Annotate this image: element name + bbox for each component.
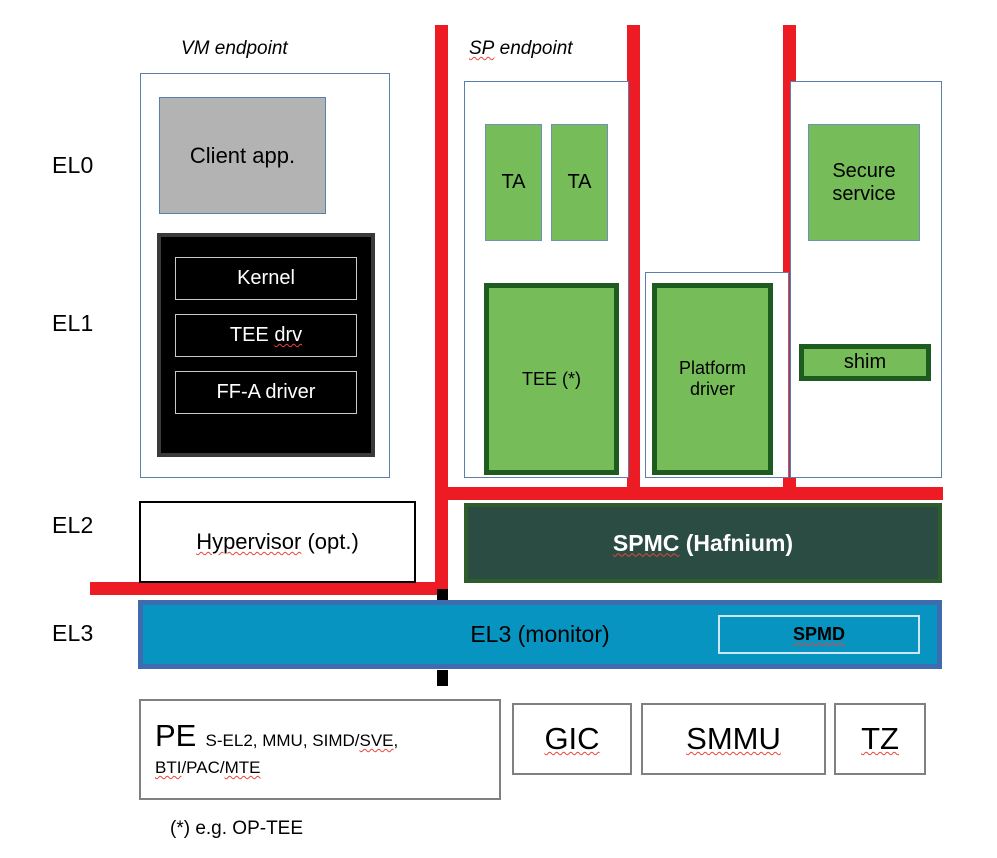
el3-text: EL3 — [52, 620, 94, 646]
platform-driver-box[interactable]: Platformdriver — [652, 283, 773, 475]
caption-sp-endpoint: SP endpoint — [469, 38, 573, 60]
el2-text: EL2 — [52, 512, 94, 538]
tee-box[interactable]: TEE (*) — [484, 283, 619, 475]
red-boundary-vertical-left — [435, 25, 448, 595]
exception-level-label-el1: EL1 — [52, 310, 142, 337]
secure-service-box[interactable]: Secureservice — [808, 124, 920, 241]
red-boundary-horizontal-left — [90, 582, 448, 595]
client-app-box[interactable]: Client app. — [159, 97, 326, 214]
ffa-driver-label: FF-A driver — [217, 381, 316, 404]
tee-label: TEE (*) — [522, 369, 581, 390]
spmd-box[interactable]: SPMD — [718, 615, 920, 654]
trusted-app-label-1: TA — [501, 171, 525, 194]
tz-label: TZ — [861, 721, 899, 757]
hypervisor-label: Hypervisor (opt.) — [196, 529, 359, 555]
connector-square-el3-pe — [437, 670, 448, 686]
kernel-label: Kernel — [237, 267, 295, 290]
ffa-driver-box[interactable]: FF-A driver — [175, 371, 357, 414]
sp-endpoint-label-sp: SP — [469, 38, 494, 59]
el3-monitor-label: EL3 (monitor) — [470, 621, 609, 648]
pe-text-block: PE S-EL2, MMU, SIMD/SVE, BTI/PAC/MTE — [155, 715, 489, 780]
secure-service-label: Secureservice — [832, 160, 895, 206]
trusted-app-box-1[interactable]: TA — [485, 124, 542, 241]
platform-driver-label: Platformdriver — [679, 358, 746, 399]
smmu-box[interactable]: SMMU — [641, 703, 826, 775]
pe-features-line1: S-EL2, MMU, SIMD/SVE, — [201, 731, 398, 750]
gic-box[interactable]: GIC — [512, 703, 632, 775]
tee-driver-label: TEE drv — [230, 324, 302, 347]
trusted-app-box-2[interactable]: TA — [551, 124, 608, 241]
caption-vm-endpoint: VM endpoint — [181, 38, 288, 60]
spmc-box[interactable]: SPMC (Hafnium) — [464, 503, 942, 583]
kernel-box[interactable]: Kernel — [175, 257, 357, 300]
vm-os-stack-container: Kernel TEE drv FF-A driver — [157, 233, 375, 457]
shim-box[interactable]: shim — [799, 344, 931, 381]
footnote: (*) e.g. OP-TEE — [170, 818, 303, 840]
pe-features-line2: BTI/PAC/MTE — [155, 757, 489, 780]
sp-endpoint-label-rest: endpoint — [494, 38, 572, 59]
tee-driver-box[interactable]: TEE drv — [175, 314, 357, 357]
vm-endpoint-label: VM endpoint — [181, 38, 288, 59]
el0-text: EL0 — [52, 152, 94, 178]
shim-label: shim — [844, 351, 886, 374]
spmd-label: SPMD — [793, 624, 845, 645]
exception-level-label-el2: EL2 — [52, 512, 142, 539]
diagram-canvas: EL0 EL1 EL2 EL3 VM endpoint SP endpoint … — [0, 0, 997, 858]
gic-label: GIC — [544, 721, 599, 757]
trusted-app-label-2: TA — [567, 171, 591, 194]
spmc-label: SPMC (Hafnium) — [613, 530, 793, 557]
footnote-label: (*) e.g. OP-TEE — [170, 818, 303, 839]
hypervisor-box[interactable]: Hypervisor (opt.) — [139, 501, 416, 583]
pe-name-label: PE — [155, 718, 196, 753]
exception-level-label-el0: EL0 — [52, 152, 142, 179]
red-boundary-horizontal-right — [435, 487, 943, 500]
exception-level-label-el3: EL3 — [52, 620, 142, 647]
pe-box[interactable]: PE S-EL2, MMU, SIMD/SVE, BTI/PAC/MTE — [139, 699, 501, 800]
el1-text: EL1 — [52, 310, 94, 336]
tz-box[interactable]: TZ — [834, 703, 926, 775]
smmu-label: SMMU — [686, 721, 781, 757]
client-app-label: Client app. — [190, 143, 295, 169]
